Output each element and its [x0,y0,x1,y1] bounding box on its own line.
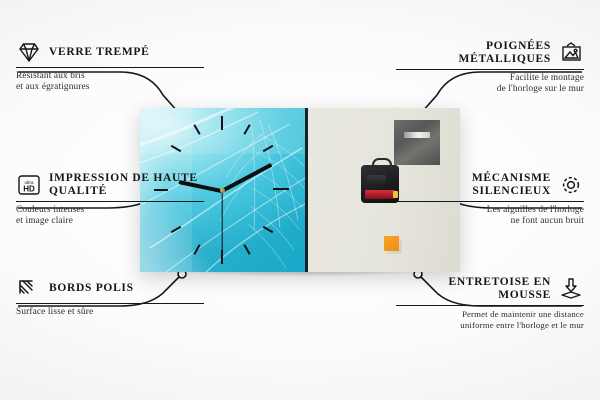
callout-subtitle: Résistant aux bris et aux égratignures [16,71,204,93]
callout-title: MÉCANISME SILENCIEUX [403,172,551,198]
hanger-slot [404,132,430,138]
callout-subtitle: Permet de maintenir une distance uniform… [396,309,584,331]
callout-title: BORDS POLIS [49,282,134,295]
callout-subtitle: Facilite le montage de l'horloge sur le … [396,73,584,95]
tick-4 [263,226,274,233]
callout-entretoise-en-mousse: ENTRETOISE EN MOUSSE Permet de maintenir… [396,276,584,331]
callout-impression-haute-qualite: ultra HD IMPRESSION DE HAUTE QUALITÉ Cou… [16,172,204,227]
metal-hanger-plate [394,120,440,165]
callout-mecanisme-silencieux: MÉCANISME SILENCIEUX Les aiguilles de l'… [396,172,584,227]
tick-12 [221,116,223,130]
callout-subtitle: Les aiguilles de l'horloge ne font aucun… [396,205,584,227]
mechanism-hanging-loop [372,158,392,170]
callout-title: VERRE TREMPÉ [49,46,150,59]
callout-subtitle: Surface lisse et sûre [16,307,204,318]
callout-verre-trempe: VERRE TREMPÉ Résistant aux bris et aux é… [16,40,204,93]
callout-header: MÉCANISME SILENCIEUX [396,172,584,198]
callout-header: BORDS POLIS [16,276,204,300]
callout-title: POIGNÉES MÉTALLIQUES [401,40,551,66]
tick-1 [243,124,250,135]
callout-poignees-metalliques: POIGNÉES MÉTALLIQUES Facilite le montage… [396,40,584,95]
clock-center-hub [220,188,225,193]
battery [365,190,395,199]
tick-11 [193,124,200,135]
tick-5 [243,244,250,255]
callout-header: VERRE TREMPÉ [16,40,204,64]
callout-header: ENTRETOISE EN MOUSSE [396,276,584,302]
gear-icon [558,173,584,197]
callout-title: IMPRESSION DE HAUTE QUALITÉ [49,172,199,198]
callout-rule [16,201,204,202]
minute-hand [221,163,272,193]
mechanism-shaft [367,175,386,184]
callout-rule [396,305,584,306]
callout-title: ENTRETOISE EN MOUSSE [409,276,551,302]
tick-3 [273,188,289,190]
callout-rule [16,67,204,68]
ultra-hd-icon: ultra HD [16,173,42,197]
diamond-icon [16,40,42,64]
tick-2 [263,145,274,152]
callout-rule [396,201,584,202]
callout-subtitle: Couleurs intenses et image claire [16,205,204,227]
framed-picture-hook-icon [558,41,584,65]
quartz-mechanism [361,165,399,203]
callout-bords-polis: BORDS POLIS Surface lisse et sûre [16,276,204,318]
callout-header: ultra HD IMPRESSION DE HAUTE QUALITÉ [16,172,204,198]
foam-spacer [384,236,399,251]
arrow-onto-pad-icon [558,277,584,301]
callout-header: POIGNÉES MÉTALLIQUES [396,40,584,66]
infographic-canvas: VERRE TREMPÉ Résistant aux bris et aux é… [0,0,600,400]
svg-text:HD: HD [23,184,35,193]
polished-edges-icon [16,276,42,300]
tick-10 [171,145,182,152]
callout-rule [16,303,204,304]
second-hand [221,191,222,253]
tick-7 [193,244,200,255]
callout-rule [396,69,584,70]
